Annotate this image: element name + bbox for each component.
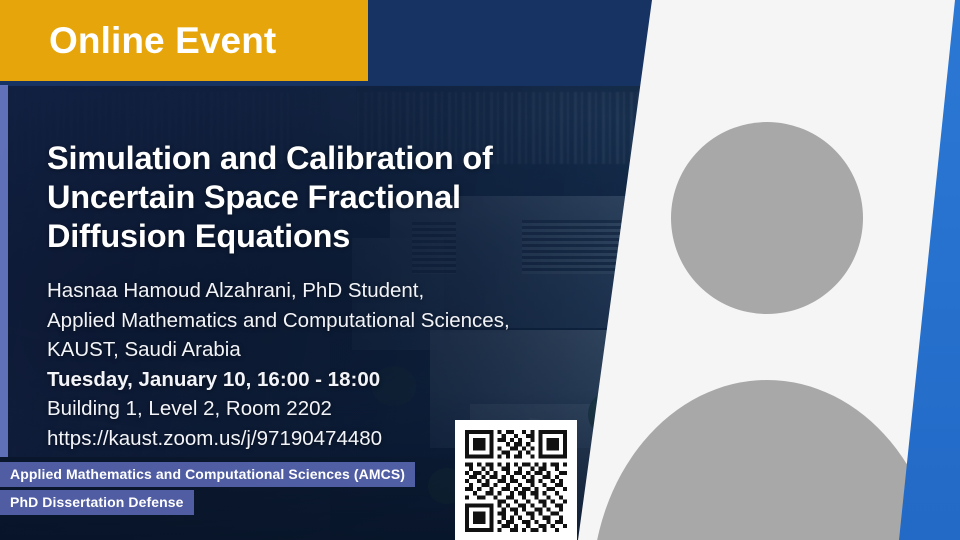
title-line-2: Uncertain Space Fractional: [47, 178, 607, 217]
title-line-3: Diffusion Equations: [47, 217, 607, 256]
title-line-1: Simulation and Calibration of: [47, 139, 607, 178]
online-event-label: Online Event: [0, 22, 276, 59]
online-event-banner: Online Event: [0, 0, 368, 81]
status-badge-event-type: PhD Dissertation Defense: [0, 490, 194, 515]
qr-code[interactable]: [455, 420, 577, 540]
event-poster: Online Event Simulation and Calibration …: [0, 0, 960, 540]
qr-code-icon: [465, 430, 567, 532]
speaker-affiliation: Applied Mathematics and Computational Sc…: [47, 306, 607, 336]
badge-group: Applied Mathematics and Computational Sc…: [0, 462, 415, 515]
speaker-institution: KAUST, Saudi Arabia: [47, 335, 607, 365]
page-title: Simulation and Calibration of Uncertain …: [47, 139, 607, 256]
event-datetime: Tuesday, January 10, 16:00 - 18:00: [47, 365, 607, 395]
avatar-body-icon: [592, 380, 942, 540]
status-badge-program: Applied Mathematics and Computational Sc…: [0, 462, 415, 487]
avatar-head-icon: [671, 122, 863, 314]
speaker-name: Hasnaa Hamoud Alzahrani, PhD Student,: [47, 276, 607, 306]
